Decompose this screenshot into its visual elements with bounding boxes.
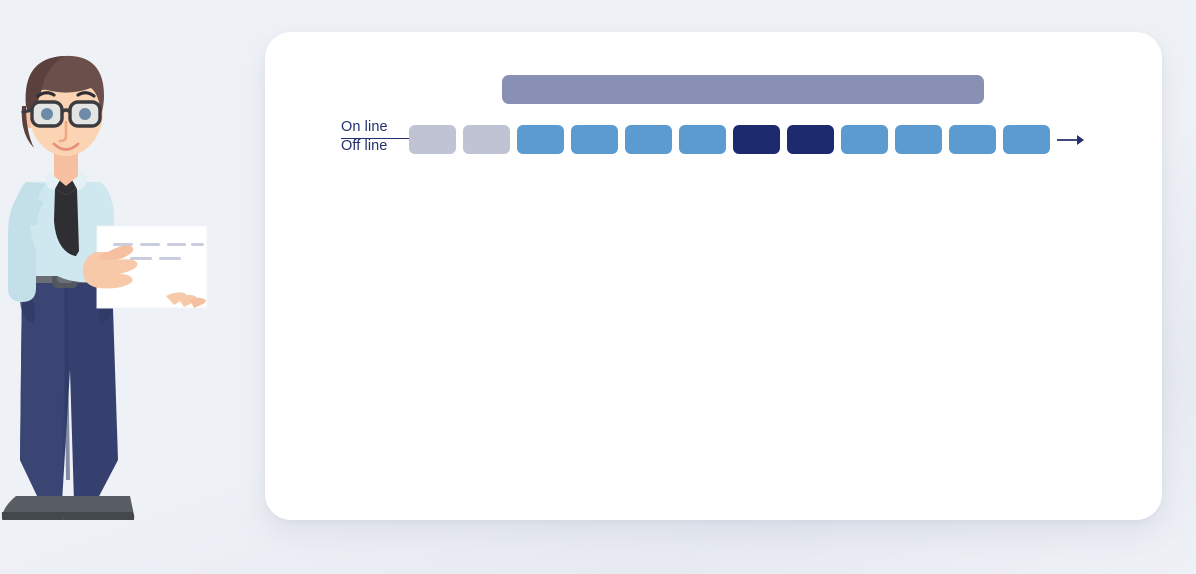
trousers [20,278,118,502]
glasses-icon [23,102,100,126]
timeline-block-4[interactable] [571,125,618,154]
timeline-blocks [409,125,1050,154]
axis-label-off-line: Off line [341,137,407,156]
timeline-block-11[interactable] [949,125,996,154]
timeline-block-2[interactable] [463,125,510,154]
title-placeholder-bar[interactable] [502,75,984,104]
head [22,56,104,156]
axis-label-on-line: On line [341,118,407,137]
timeline-arrow-icon [1057,132,1085,148]
slide-card [265,32,1162,520]
timeline-block-7[interactable] [733,125,780,154]
timeline-axis-labels: On line Off line [341,118,407,156]
timeline-block-6[interactable] [679,125,726,154]
timeline-block-3[interactable] [517,125,564,154]
timeline-block-12[interactable] [1003,125,1050,154]
timeline-block-8[interactable] [787,125,834,154]
timeline-block-1[interactable] [409,125,456,154]
shoes [2,496,134,520]
online-offline-timeline: On line Off line [341,118,1081,164]
presenter-illustration [0,40,232,520]
timeline-block-10[interactable] [895,125,942,154]
timeline-block-9[interactable] [841,125,888,154]
axis-divider-rule [341,138,410,140]
timeline-block-5[interactable] [625,125,672,154]
